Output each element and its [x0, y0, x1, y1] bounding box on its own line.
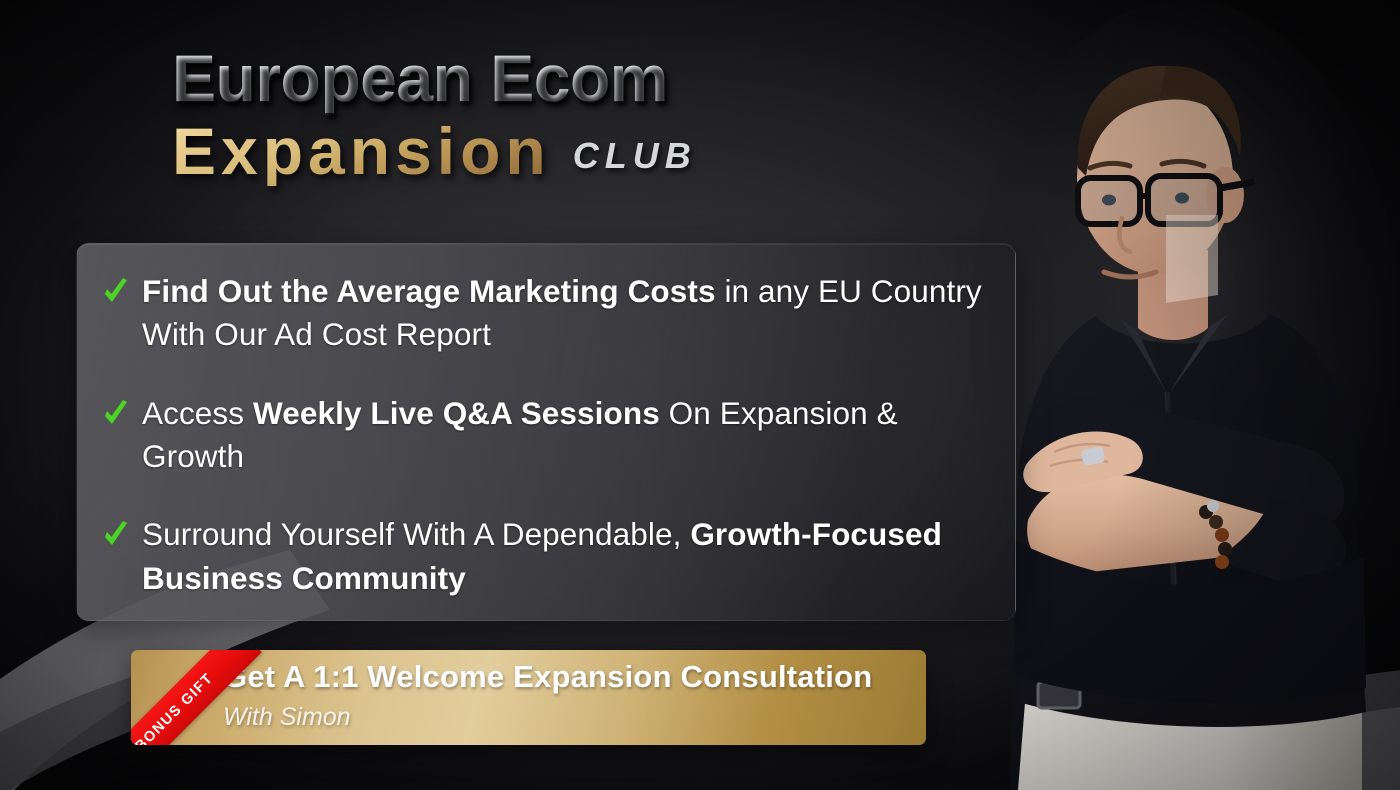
benefit-1-bold: Find Out the Average Marketing Costs: [142, 273, 716, 309]
benefit-2-lead: Access: [142, 395, 253, 431]
title-club-badge: CLUB: [573, 135, 697, 186]
benefit-2-bold: Weekly Live Q&A Sessions: [253, 395, 660, 431]
ribbon-label: BONUS GIFT: [132, 670, 216, 745]
title-block: European Ecom Expansion CLUB: [172, 44, 952, 186]
banner-stage: European Ecom Expansion CLUB Find Out th…: [0, 0, 1400, 790]
benefit-item-2: Access Weekly Live Q&A Sessions On Expan…: [103, 392, 985, 479]
benefit-item-1: Find Out the Average Marketing Costs in …: [103, 270, 985, 357]
benefits-card: Find Out the Average Marketing Costs in …: [76, 243, 1016, 621]
benefit-text-2: Access Weekly Live Q&A Sessions On Expan…: [142, 392, 985, 479]
bonus-title: Get A 1:1 Welcome Expansion Consultation: [223, 658, 926, 697]
bonus-subtitle: With Simon: [223, 703, 926, 732]
check-icon: [103, 400, 129, 432]
bonus-gift-bar[interactable]: BONUS GIFT Get A 1:1 Welcome Expansion C…: [131, 650, 926, 745]
benefit-3-lead: Surround Yourself With A Dependable,: [142, 516, 690, 552]
bonus-ribbon: BONUS GIFT: [131, 650, 271, 745]
check-icon: [103, 278, 129, 310]
ribbon-band: BONUS GIFT: [131, 650, 262, 745]
benefit-item-3: Surround Yourself With A Dependable, Gro…: [103, 513, 985, 600]
page-title-line2: Expansion: [172, 117, 551, 186]
page-title-line1: European Ecom: [172, 44, 668, 113]
title-row-secondary: Expansion CLUB: [172, 117, 952, 186]
check-icon: [103, 521, 129, 553]
benefit-text-3: Surround Yourself With A Dependable, Gro…: [142, 513, 985, 600]
person-photo: [970, 0, 1400, 790]
benefit-text-1: Find Out the Average Marketing Costs in …: [142, 270, 985, 357]
